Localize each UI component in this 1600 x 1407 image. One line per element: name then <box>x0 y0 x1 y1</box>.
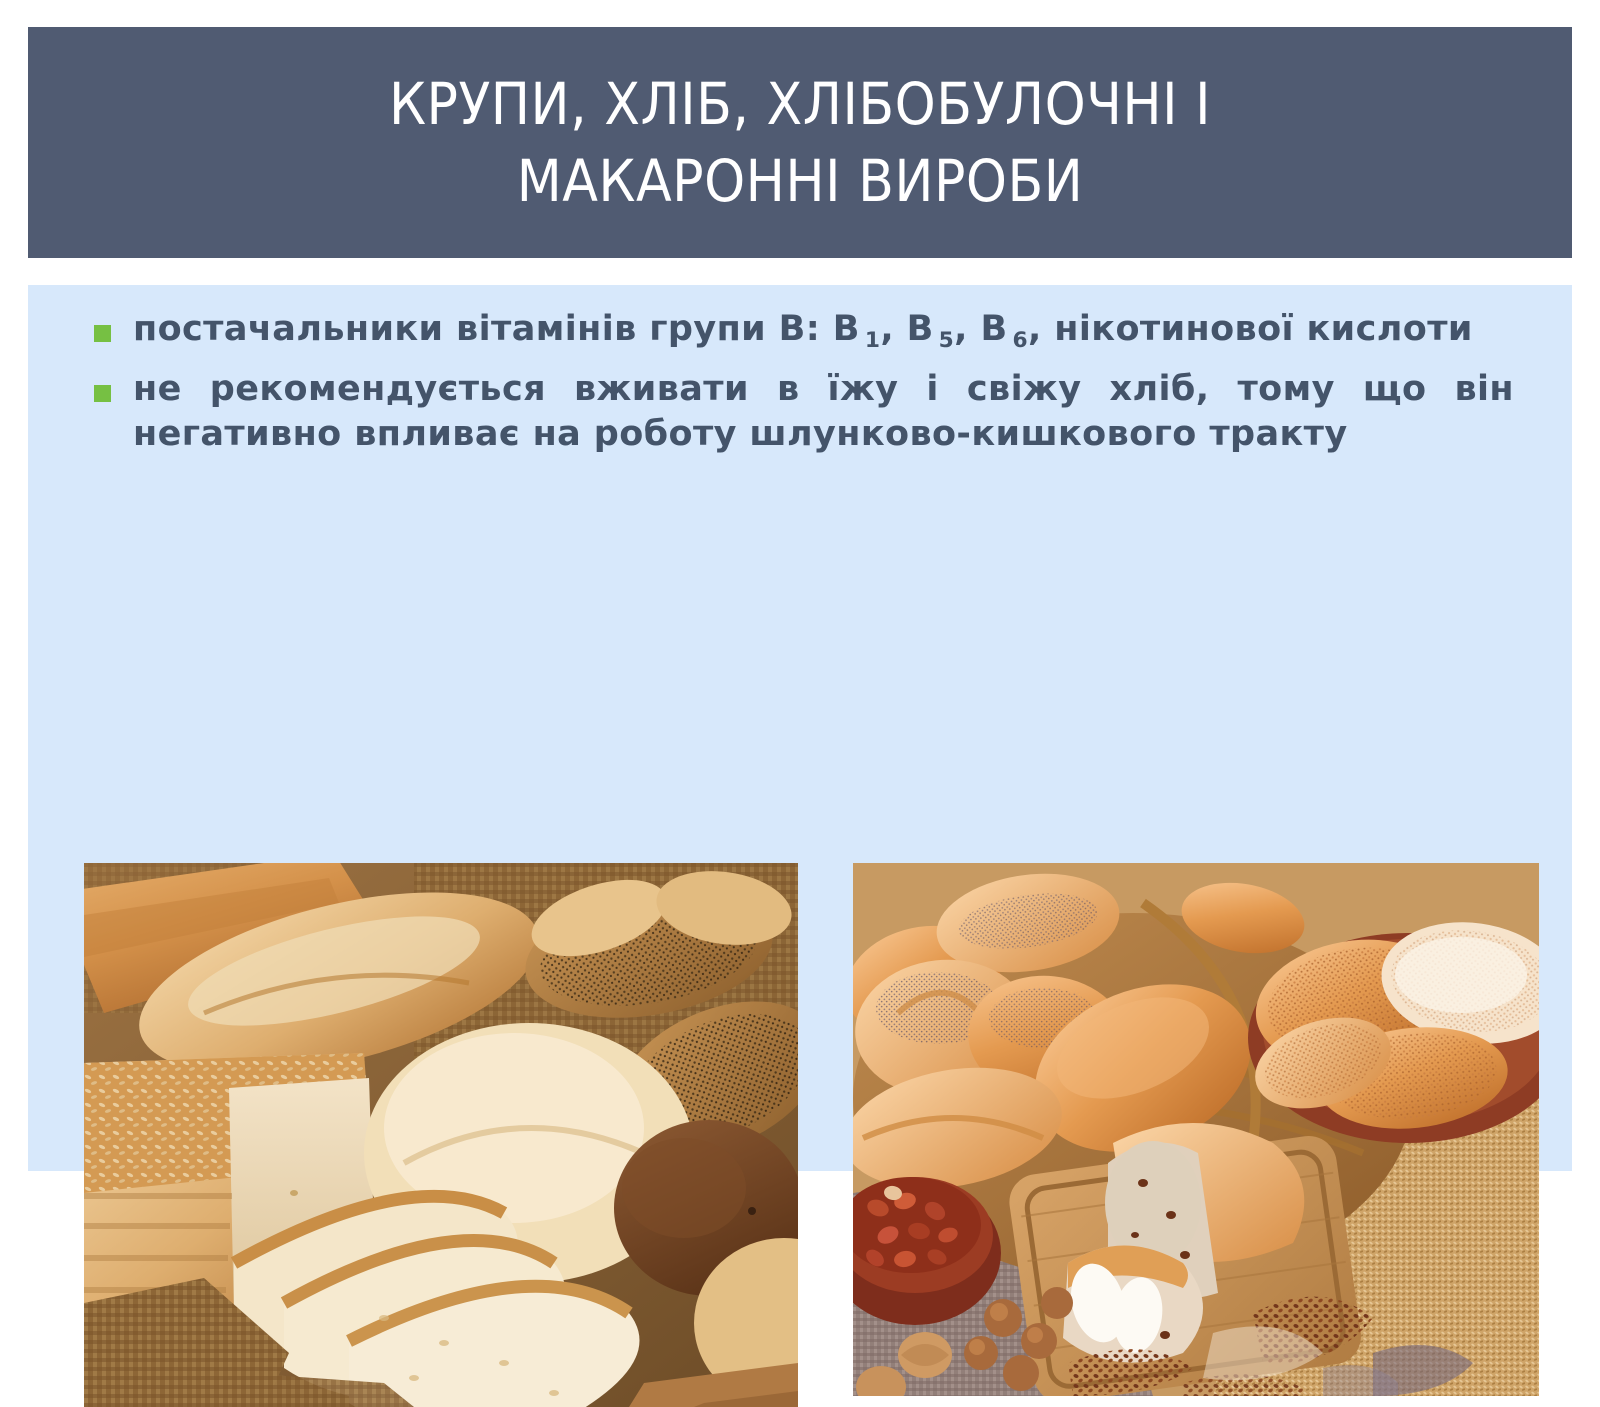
subscript-b1: 1 <box>865 328 881 353</box>
title-banner: КРУПИ, ХЛІБ, ХЛІБОБУЛОЧНІ І МАКАРОННІ ВИ… <box>28 27 1572 258</box>
bullet-text-vitamins: постачальники вітамінів групи B: B1, B5,… <box>133 307 1514 353</box>
list-item: не рекомендується вживати в їжу і свіжу … <box>94 367 1514 458</box>
subscript-b5: 5 <box>939 328 955 353</box>
content-panel: постачальники вітамінів групи B: B1, B5,… <box>28 285 1572 1171</box>
green-square-bullet-icon <box>94 325 111 342</box>
photo-buns-and-grains <box>853 863 1539 1396</box>
page-title: КРУПИ, ХЛІБ, ХЛІБОБУЛОЧНІ І МАКАРОННІ ВИ… <box>235 66 1365 219</box>
bullet-segment: , B <box>954 309 1007 349</box>
bullet-segment: , нікотинової кислоти <box>1028 309 1473 349</box>
list-item: постачальники вітамінів групи B: B1, B5,… <box>94 307 1514 353</box>
green-square-bullet-icon <box>94 385 111 402</box>
bullet-text-fresh-bread: не рекомендується вживати в їжу і свіжу … <box>133 367 1514 458</box>
bullet-list: постачальники вітамінів групи B: B1, B5,… <box>94 307 1514 472</box>
bullet-segment: постачальники вітамінів групи B: B <box>133 309 860 349</box>
subscript-b6: 6 <box>1013 328 1029 353</box>
photo-breads-assortment <box>84 863 798 1407</box>
bullet-segment: , B <box>880 309 933 349</box>
